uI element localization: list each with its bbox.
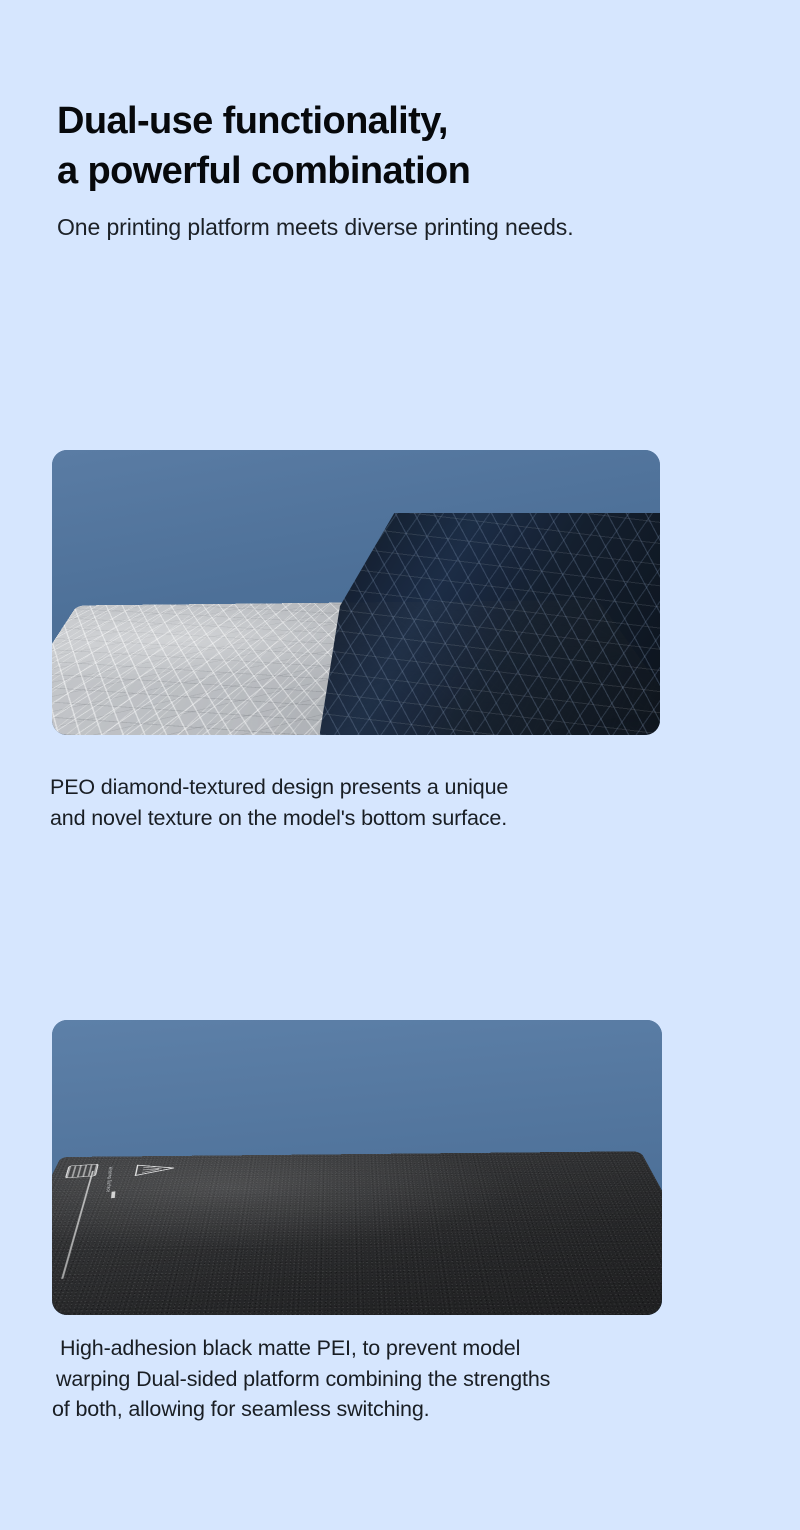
peo-caption: PEO diamond-textured design presents a u…	[50, 772, 780, 833]
page-title-line-1: Dual-use functionality,	[57, 96, 777, 146]
pei-plate-markings: Heating Surface CREALITY	[52, 1152, 662, 1315]
plate-edge-line	[62, 1171, 94, 1279]
blue-polyhedron-model	[420, 728, 660, 735]
peo-caption-line-1: PEO diamond-textured design presents a u…	[50, 772, 780, 803]
plate-tick-mark	[111, 1192, 115, 1199]
peo-caption-line-2: and novel texture on the model's bottom …	[50, 803, 780, 834]
pei-build-plate-photo: Heating Surface CREALITY	[52, 1020, 662, 1315]
page-header: Dual-use functionality, a powerful combi…	[57, 96, 777, 241]
arrow-direction-icon	[134, 1162, 177, 1178]
page-title-line-2: a powerful combination	[57, 146, 777, 196]
page-title: Dual-use functionality, a powerful combi…	[57, 96, 777, 196]
pei-matte-plate: Heating Surface CREALITY	[52, 1152, 662, 1315]
pei-caption-line-1: High-adhesion black matte PEI, to preven…	[52, 1333, 792, 1364]
pei-caption: High-adhesion black matte PEI, to preven…	[52, 1333, 792, 1425]
heating-surface-label: Heating Surface	[105, 1167, 113, 1193]
pei-caption-line-2: warping Dual-sided platform combining th…	[52, 1364, 792, 1395]
hot-surface-warning-icon	[65, 1164, 99, 1178]
creality-brand-label: CREALITY	[52, 1219, 53, 1275]
pei-caption-line-3: of both, allowing for seamless switching…	[52, 1394, 792, 1425]
page-subtitle: One printing platform meets diverse prin…	[57, 214, 777, 241]
peo-build-plate-photo	[52, 450, 660, 735]
